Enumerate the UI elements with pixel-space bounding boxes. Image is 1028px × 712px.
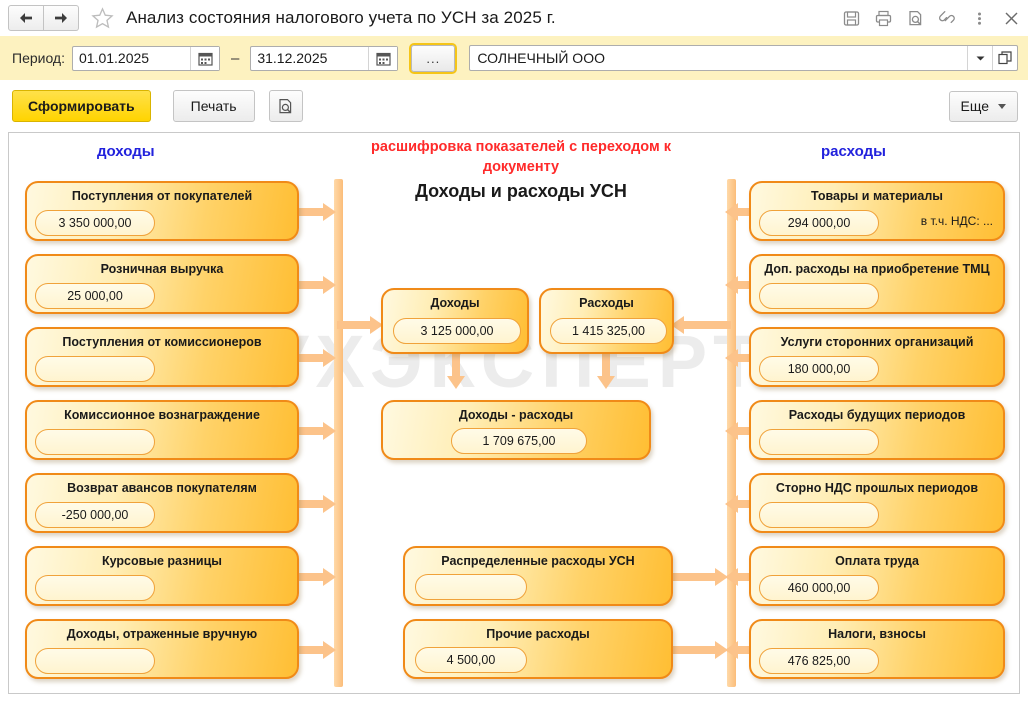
node-income-6[interactable]: Доходы, отраженные вручную [25, 619, 299, 679]
node-label: Розничная выручка [27, 262, 297, 276]
node-label: Поступления от комиссионеров [27, 335, 297, 349]
save-icon[interactable] [843, 10, 860, 27]
arrow-income-5 [297, 568, 337, 586]
back-arrow-icon [18, 12, 34, 24]
node-value[interactable] [415, 574, 527, 600]
node-income-5[interactable]: Курсовые разницы [25, 546, 299, 606]
node-label: Налоги, взносы [751, 627, 1003, 641]
close-icon[interactable] [1003, 10, 1020, 27]
arrow-income-4 [297, 495, 337, 513]
forward-arrow-icon [53, 12, 69, 24]
calendar-icon-from[interactable] [190, 47, 219, 70]
node-income-0[interactable]: Поступления от покупателей 3 350 000,00 [25, 181, 299, 241]
node-expense-6[interactable]: Налоги, взносы 476 825,00 [749, 619, 1005, 679]
node-expense-total[interactable]: Расходы 1 415 325,00 [539, 288, 674, 354]
arrow-income-1 [297, 276, 337, 294]
node-income-1[interactable]: Розничная выручка 25 000,00 [25, 254, 299, 314]
decode-hint-caption: расшифровка показателей с переходом к до… [331, 137, 711, 177]
node-label: Оплата труда [751, 554, 1003, 568]
arrow-income-6 [297, 641, 337, 659]
arrow-income-2 [297, 349, 337, 367]
node-value[interactable]: 460 000,00 [759, 575, 879, 601]
window-action-icons [843, 0, 1020, 36]
node-label: Сторно НДС прошлых периодов [751, 481, 1003, 495]
node-value[interactable]: 180 000,00 [759, 356, 879, 382]
income-column-header: доходы [97, 143, 155, 160]
node-label: Распределенные расходы УСН [405, 554, 671, 568]
node-value[interactable] [759, 502, 879, 528]
node-label: Возврат авансов покупателям [27, 481, 297, 495]
node-income-4[interactable]: Возврат авансов покупателям -250 000,00 [25, 473, 299, 533]
star-icon [91, 7, 114, 29]
node-value[interactable]: 3 350 000,00 [35, 210, 155, 236]
window-title-bar: Анализ состояния налогового учета по УСН… [0, 0, 1028, 36]
navigation-buttons [8, 5, 79, 31]
more-menu-label: Еще [961, 98, 990, 114]
node-value[interactable]: 1 709 675,00 [451, 428, 587, 454]
node-income-minus-expense[interactable]: Доходы - расходы 1 709 675,00 [381, 400, 651, 460]
node-value[interactable] [759, 283, 879, 309]
arrow-bus-to-expense-total [671, 316, 731, 334]
node-label: Поступления от покупателей [27, 189, 297, 203]
node-label: Расходы будущих периодов [751, 408, 1003, 422]
node-other-expenses[interactable]: Прочие расходы 4 500,00 [403, 619, 673, 679]
node-value[interactable] [35, 575, 155, 601]
node-label: Доходы, отраженные вручную [27, 627, 297, 641]
node-expense-0[interactable]: Товары и материалы 294 000,00 в т.ч. НДС… [749, 181, 1005, 241]
node-expense-4[interactable]: Сторно НДС прошлых периодов [749, 473, 1005, 533]
node-value[interactable]: 3 125 000,00 [393, 318, 521, 344]
favorite-button[interactable] [91, 7, 114, 29]
node-expense-5[interactable]: Оплата труда 460 000,00 [749, 546, 1005, 606]
node-value[interactable] [35, 648, 155, 674]
print-button[interactable]: Печать [173, 90, 255, 122]
arrow-income-3 [297, 422, 337, 440]
node-value[interactable] [759, 429, 879, 455]
calendar-icon-to[interactable] [368, 47, 397, 70]
node-distributed-expenses[interactable]: Распределенные расходы УСН [403, 546, 673, 606]
node-income-3[interactable]: Комиссионное вознаграждение [25, 400, 299, 460]
node-vat-note: в т.ч. НДС: ... [921, 214, 993, 228]
period-label: Период: [12, 50, 65, 66]
node-value[interactable]: -250 000,00 [35, 502, 155, 528]
node-expense-1[interactable]: Доп. расходы на приобретение ТМЦ [749, 254, 1005, 314]
chevron-down-icon [998, 104, 1006, 109]
arrow-distributed-to-bus [671, 568, 729, 586]
period-filter-bar: Период: 01.01.2025 – 31.12.2025 ... СОЛН… [0, 36, 1028, 80]
arrow-income-0 [297, 203, 337, 221]
node-label: Доп. расходы на приобретение ТМЦ [751, 262, 1003, 276]
generate-button[interactable]: Сформировать [12, 90, 151, 122]
open-reference-icon[interactable] [992, 46, 1017, 70]
print-preview-button[interactable] [269, 90, 303, 122]
print-icon[interactable] [875, 10, 892, 27]
diagram-canvas: БУХЭКСПЕРТ доходы расходы расшифровка по… [8, 132, 1020, 694]
date-from-value: 01.01.2025 [73, 50, 190, 66]
chevron-down-icon[interactable] [967, 46, 992, 70]
expense-column-header: расходы [821, 143, 886, 160]
forward-button[interactable] [44, 5, 79, 31]
node-expense-3[interactable]: Расходы будущих периодов [749, 400, 1005, 460]
find-document-icon[interactable] [907, 10, 924, 27]
node-label: Доходы - расходы [383, 408, 649, 422]
page-title: Анализ состояния налогового учета по УСН… [126, 8, 556, 28]
date-range-separator: – [231, 50, 239, 67]
node-label: Курсовые разницы [27, 554, 297, 568]
node-label: Услуги сторонних организаций [751, 335, 1003, 349]
date-to-value: 31.12.2025 [251, 50, 368, 66]
node-label: Прочие расходы [405, 627, 671, 641]
node-label: Расходы [541, 296, 672, 310]
organization-field[interactable]: СОЛНЕЧНЫЙ ООО [469, 45, 1018, 71]
node-value[interactable]: 25 000,00 [35, 283, 155, 309]
date-from-field[interactable]: 01.01.2025 [72, 46, 220, 71]
more-menu-button[interactable]: Еще [949, 91, 1019, 122]
date-to-field[interactable]: 31.12.2025 [250, 46, 398, 71]
command-bar: Сформировать Печать Еще [0, 80, 1028, 132]
link-icon[interactable] [939, 10, 956, 27]
more-icon[interactable] [971, 10, 988, 27]
organization-value: СОЛНЕЧНЫЙ ООО [470, 50, 967, 66]
document-search-icon [277, 98, 294, 115]
node-value[interactable]: 1 415 325,00 [550, 318, 667, 344]
node-label: Товары и материалы [751, 189, 1003, 203]
diagram-title: Доходы и расходы УСН [331, 181, 711, 202]
period-select-button[interactable]: ... [411, 45, 455, 72]
node-value[interactable]: 476 825,00 [759, 648, 879, 674]
back-button[interactable] [8, 5, 44, 31]
node-income-total[interactable]: Доходы 3 125 000,00 [381, 288, 529, 354]
node-value[interactable] [35, 356, 155, 382]
node-value[interactable]: 4 500,00 [415, 647, 527, 673]
node-label: Доходы [383, 296, 527, 310]
node-income-2[interactable]: Поступления от комиссионеров [25, 327, 299, 387]
node-label: Комиссионное вознаграждение [27, 408, 297, 422]
node-value[interactable] [35, 429, 155, 455]
node-value[interactable]: 294 000,00 [759, 210, 879, 236]
node-expense-2[interactable]: Услуги сторонних организаций 180 000,00 [749, 327, 1005, 387]
arrow-bus-to-income-total [337, 316, 385, 334]
arrow-other-to-bus [671, 641, 729, 659]
